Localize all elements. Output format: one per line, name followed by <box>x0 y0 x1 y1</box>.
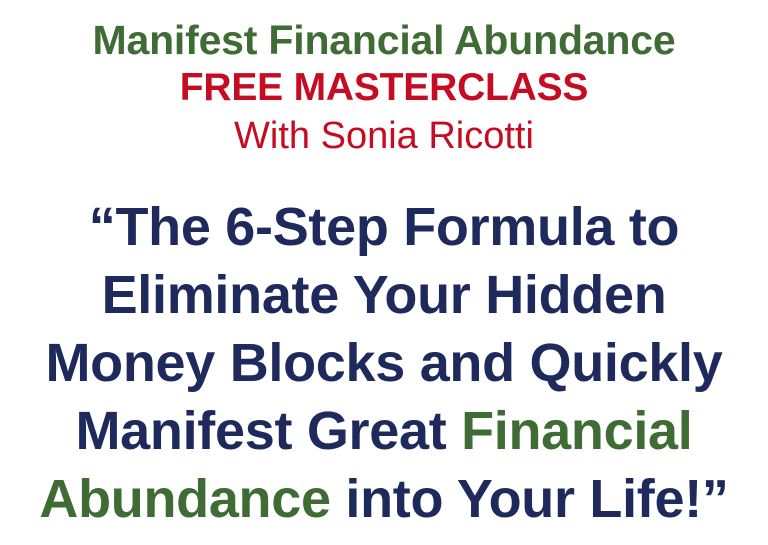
headline-line-4: Manifest Great Financial <box>28 397 740 465</box>
headline-line-5: Abundance into Your Life!” <box>28 465 740 533</box>
headline-line-1: “The 6-Step Formula to <box>28 193 740 261</box>
slide-canvas: Manifest Financial Abundance FREE MASTER… <box>0 0 768 545</box>
presenter-name: With Sonia Ricotti <box>0 114 768 159</box>
spacer <box>0 159 768 193</box>
masterclass-subtitle: FREE MASTERCLASS <box>0 66 768 111</box>
headline-line-5-green: Abundance <box>39 469 330 529</box>
header-block: Manifest Financial Abundance FREE MASTER… <box>0 0 768 159</box>
headline-quote: “The 6-Step Formula to Eliminate Your Hi… <box>0 193 768 533</box>
headline-line-2: Eliminate Your Hidden <box>28 261 740 329</box>
page-title: Manifest Financial Abundance <box>0 18 768 64</box>
headline-line-5-navy: into Your Life!” <box>331 469 729 529</box>
headline-line-3: Money Blocks and Quickly <box>28 329 740 397</box>
headline-line-4-green: Financial <box>461 401 692 461</box>
headline-line-4-navy: Manifest Great <box>76 401 462 461</box>
